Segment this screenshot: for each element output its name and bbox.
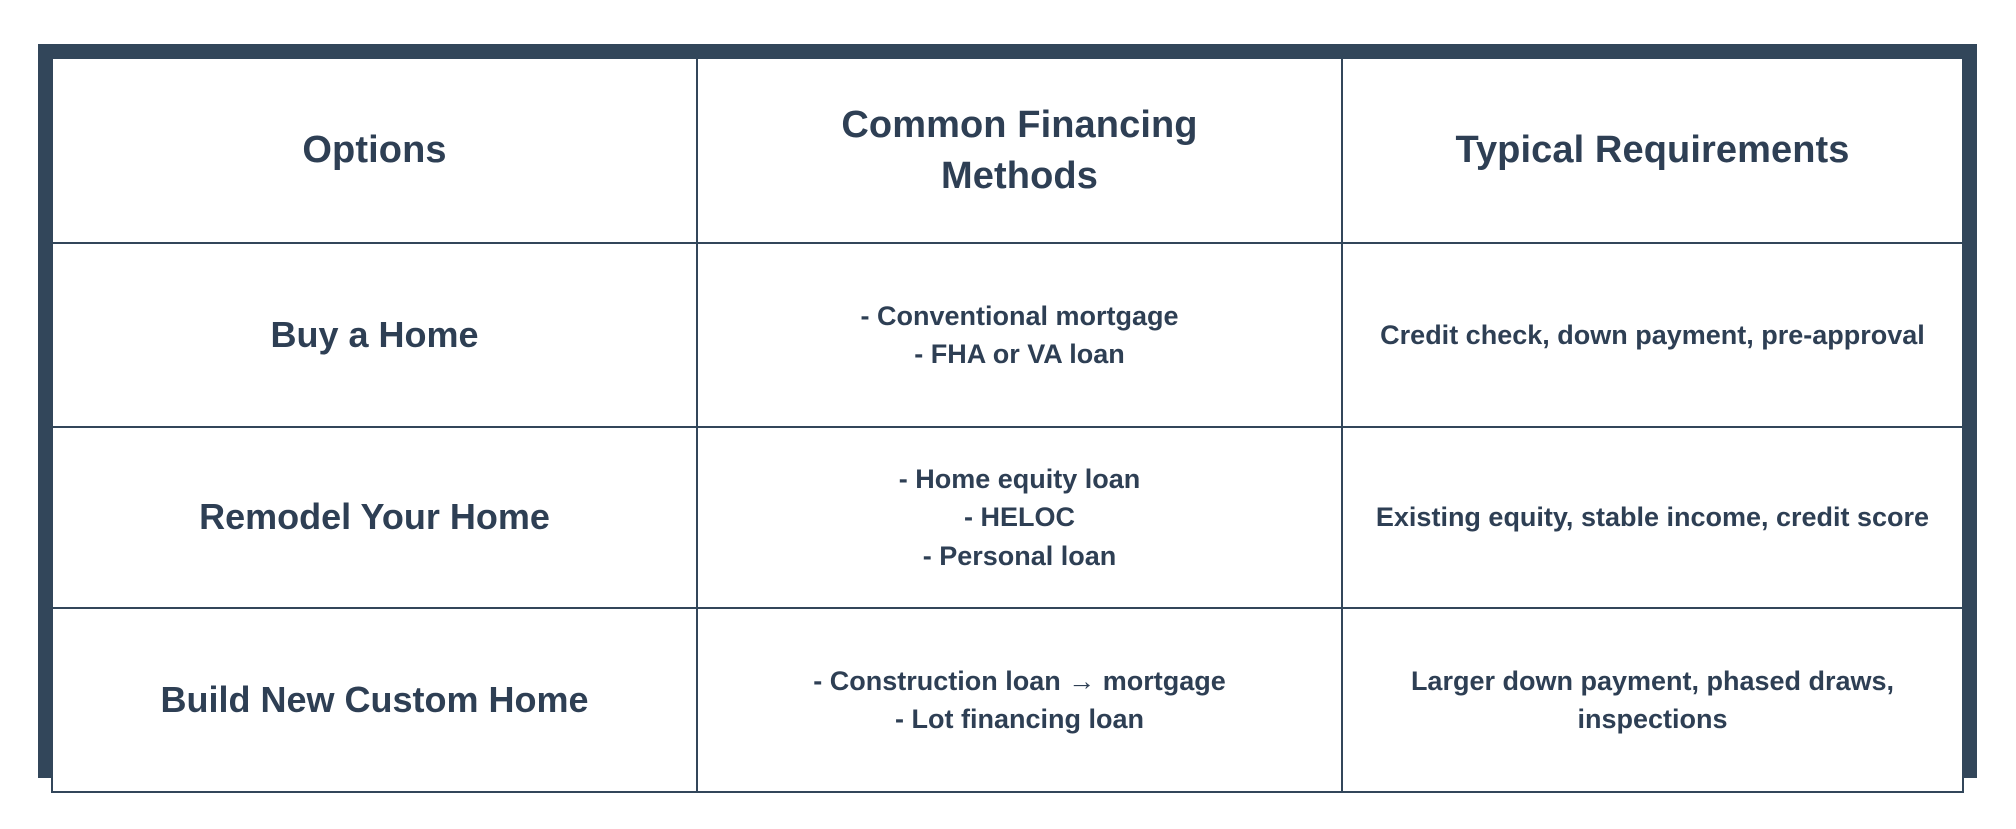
- row-3-method-cell: - Construction loan → mortgage - Lot fin…: [697, 608, 1342, 792]
- column-header-options-text: Options: [67, 125, 682, 175]
- column-header-options-line-1: Options: [67, 125, 682, 175]
- row-1-method-line-1: - Conventional mortgage: [712, 297, 1327, 335]
- row-2-method-line-1: - Home equity loan: [712, 460, 1327, 498]
- table-row: Build New Custom Home - Construction loa…: [52, 608, 1963, 792]
- row-2-option-text: Remodel Your Home: [67, 494, 682, 541]
- row-1-method-cell: - Conventional mortgage - FHA or VA loan: [697, 243, 1342, 427]
- row-2-requirement-text: Existing equity, stable income, credit s…: [1357, 498, 1948, 536]
- row-3-option-cell: Build New Custom Home: [52, 608, 697, 792]
- financing-options-table-container: Options Common Financing Methods Typical…: [38, 44, 1977, 778]
- row-2-method-line-3: - Personal loan: [712, 537, 1327, 575]
- table-row: Buy a Home - Conventional mortgage - FHA…: [52, 243, 1963, 427]
- row-3-requirement-line-1: Larger down payment, phased draws, inspe…: [1357, 662, 1948, 739]
- row-1-method-text: - Conventional mortgage - FHA or VA loan: [712, 297, 1327, 374]
- row-1-requirement-cell: Credit check, down payment, pre-approval: [1342, 243, 1963, 427]
- row-3-requirement-text: Larger down payment, phased draws, inspe…: [1357, 662, 1948, 739]
- row-3-method-text: - Construction loan → mortgage - Lot fin…: [712, 662, 1327, 739]
- financing-options-table: Options Common Financing Methods Typical…: [51, 57, 1964, 793]
- column-header-common-financing-methods: Common Financing Methods: [697, 58, 1342, 243]
- row-1-method-line-2: - FHA or VA loan: [712, 335, 1327, 373]
- row-1-option-cell: Buy a Home: [52, 243, 697, 427]
- column-header-options: Options: [52, 58, 697, 243]
- column-header-requirements-text: Typical Requirements: [1357, 125, 1948, 175]
- row-2-requirement-cell: Existing equity, stable income, credit s…: [1342, 427, 1963, 608]
- table-row: Remodel Your Home - Home equity loan - H…: [52, 427, 1963, 608]
- row-2-method-cell: - Home equity loan - HELOC - Personal lo…: [697, 427, 1342, 608]
- column-header-methods-line-1: Common Financing: [712, 100, 1327, 150]
- row-1-requirement-text: Credit check, down payment, pre-approval: [1357, 316, 1948, 354]
- row-3-method-line-1: - Construction loan → mortgage: [712, 662, 1327, 700]
- row-3-option-line-1: Build New Custom Home: [67, 677, 682, 724]
- row-2-option-cell: Remodel Your Home: [52, 427, 697, 608]
- row-3-requirement-cell: Larger down payment, phased draws, inspe…: [1342, 608, 1963, 792]
- row-2-requirement-line-1: Existing equity, stable income, credit s…: [1357, 498, 1948, 536]
- column-header-requirements-line-1: Typical Requirements: [1357, 125, 1948, 175]
- column-header-methods-text: Common Financing Methods: [712, 100, 1327, 200]
- table-header-row: Options Common Financing Methods Typical…: [52, 58, 1963, 243]
- row-1-option-text: Buy a Home: [67, 312, 682, 359]
- row-2-option-line-1: Remodel Your Home: [67, 494, 682, 541]
- column-header-methods-line-2: Methods: [712, 151, 1327, 201]
- column-header-typical-requirements: Typical Requirements: [1342, 58, 1963, 243]
- row-3-option-text: Build New Custom Home: [67, 677, 682, 724]
- row-3-method-line-2: - Lot financing loan: [712, 700, 1327, 738]
- row-1-requirement-line-1: Credit check, down payment, pre-approval: [1357, 316, 1948, 354]
- row-2-method-line-2: - HELOC: [712, 498, 1327, 536]
- row-2-method-text: - Home equity loan - HELOC - Personal lo…: [712, 460, 1327, 575]
- row-1-option-line-1: Buy a Home: [67, 312, 682, 359]
